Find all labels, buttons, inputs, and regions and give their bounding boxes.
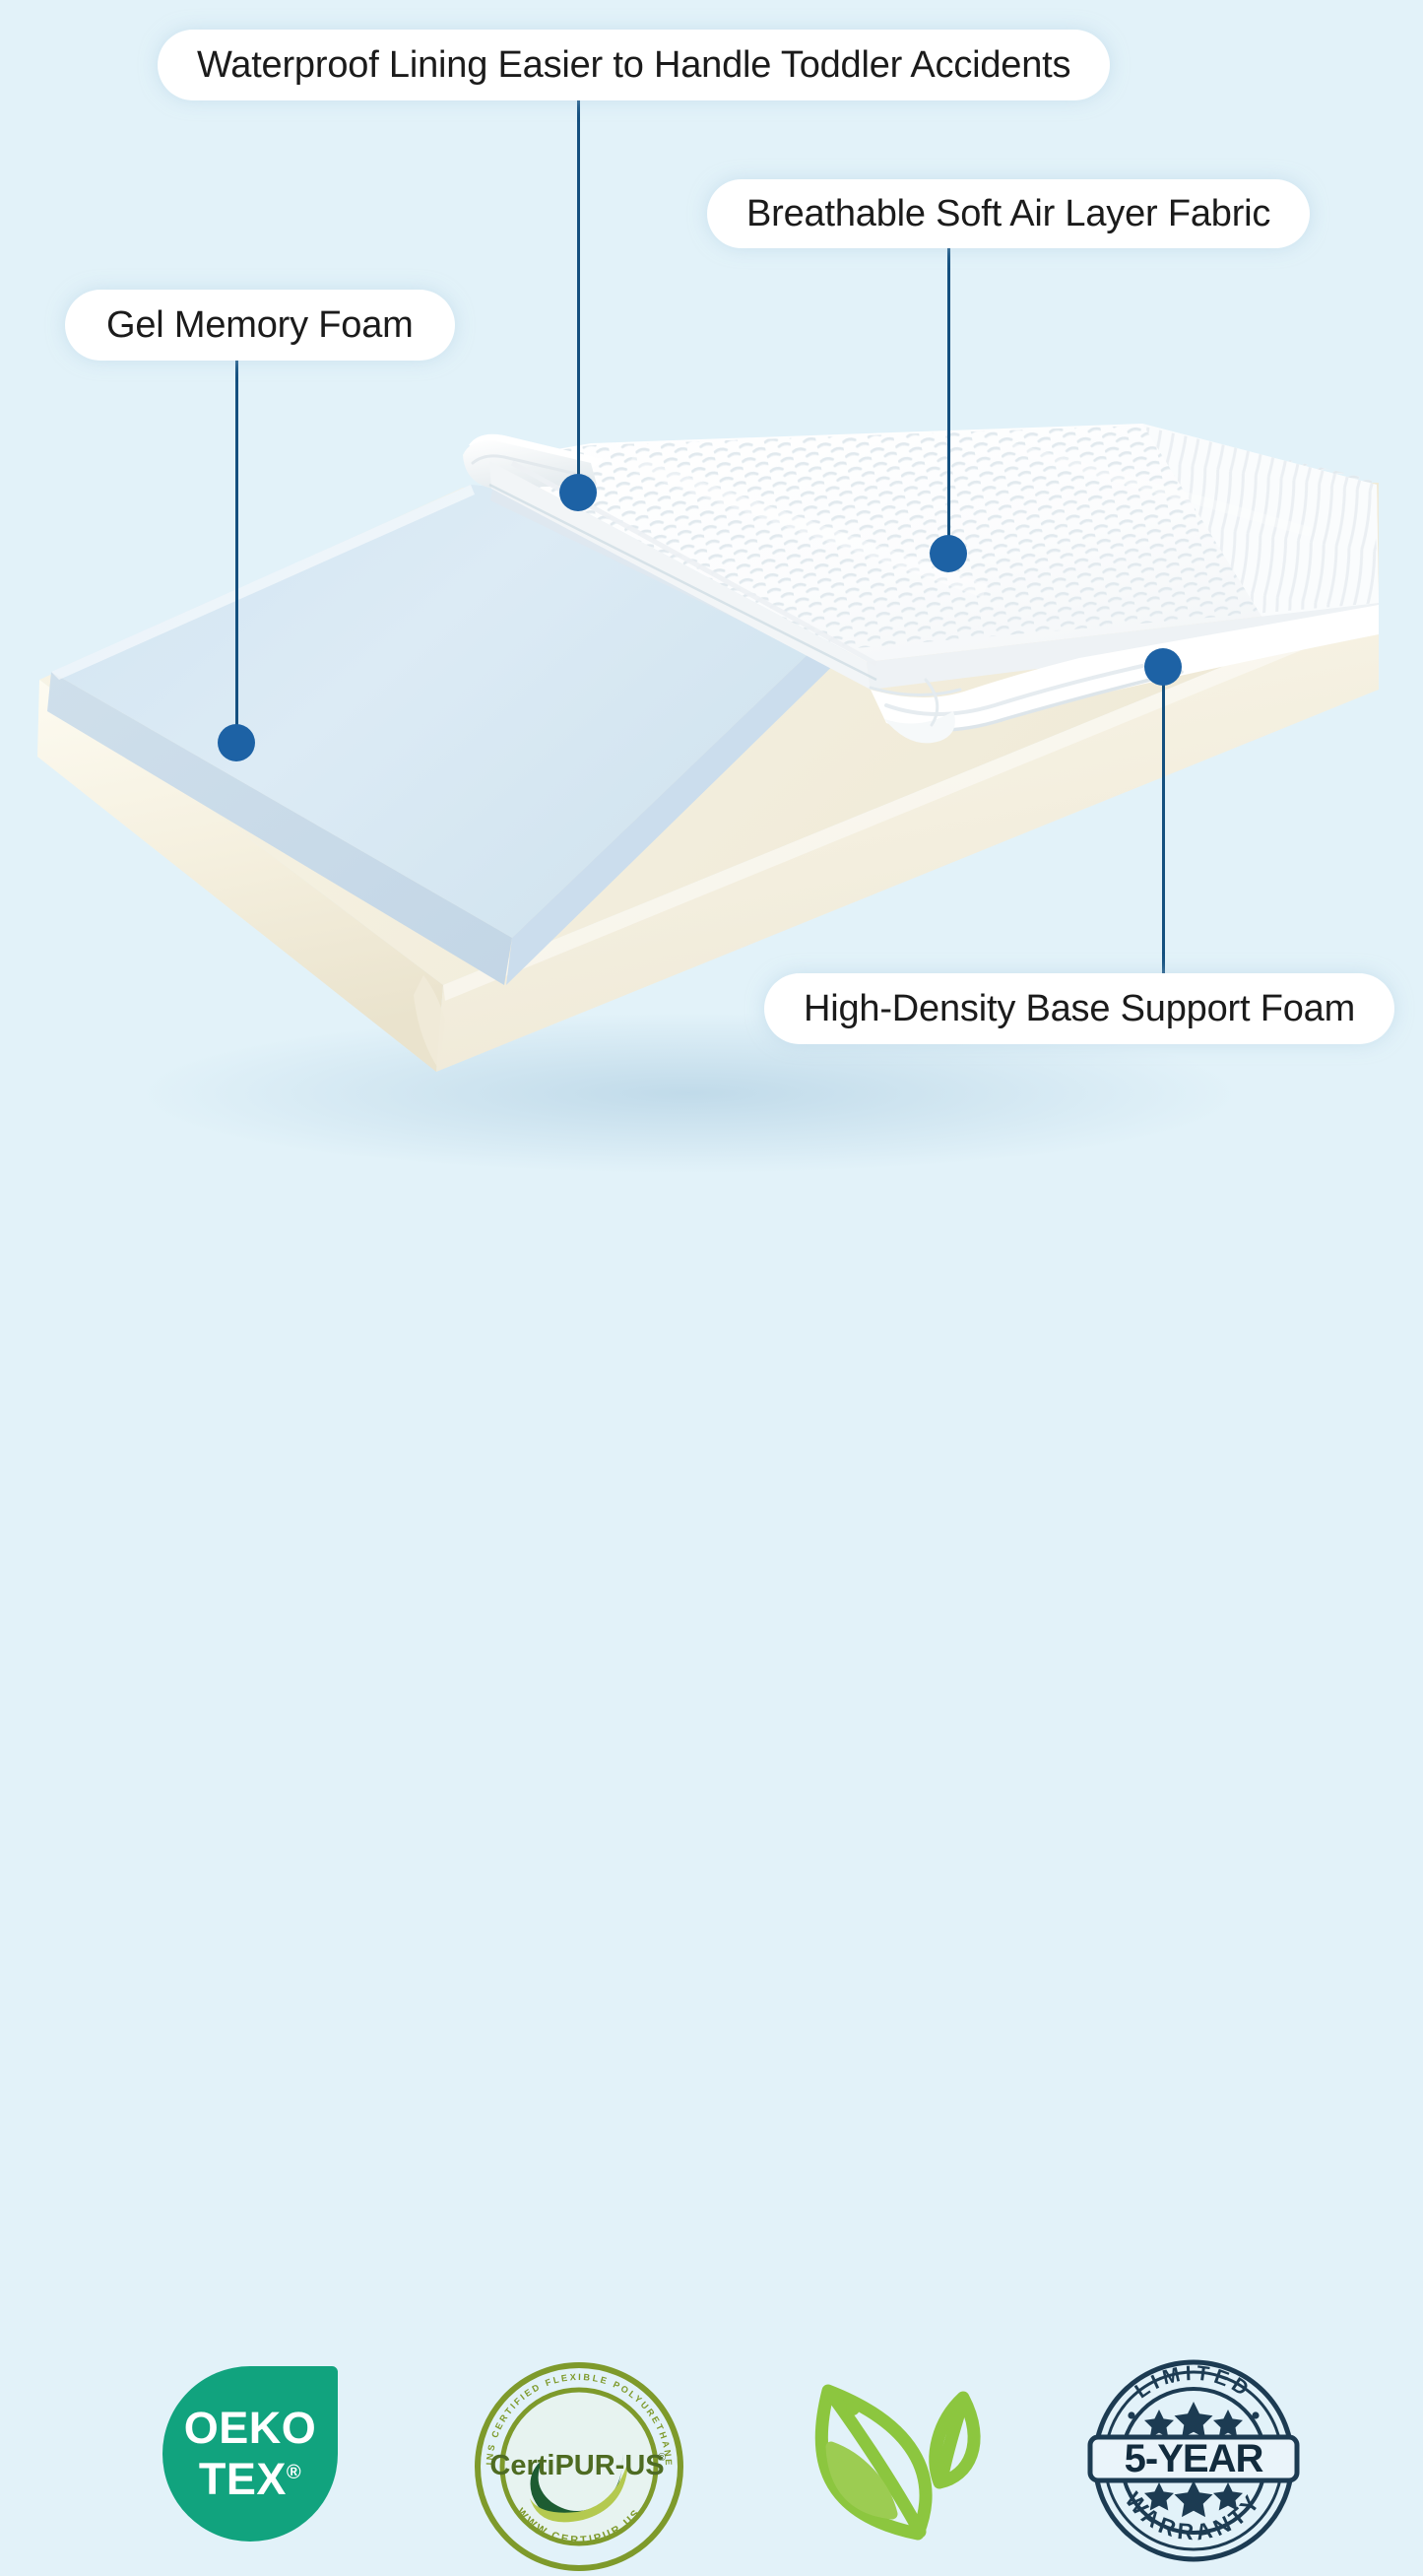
hotspot-dot-high-density-base[interactable] — [1144, 648, 1182, 686]
certification-badges-row: OEKO TEX® CONTAINS CERTIFIED — [0, 1172, 1423, 1414]
certipur-center-text: CertiPUR-US — [489, 2450, 664, 2481]
infographic-canvas: Waterproof Lining Easier to Handle Toddl… — [0, 0, 1423, 1423]
callout-waterproof-lining: Waterproof Lining Easier to Handle Toddl… — [158, 30, 1110, 100]
warranty-stars-top — [1144, 2402, 1243, 2438]
oeko-tex-line1: OEKO — [184, 2407, 317, 2450]
certipur-registered-mark: ® — [658, 2452, 666, 2464]
callout-breathable-fabric: Breathable Soft Air Layer Fabric — [707, 179, 1310, 248]
callout-gel-memory-foam: Gel Memory Foam — [65, 290, 455, 361]
certipur-us-seal-icon: CONTAINS CERTIFIED FLEXIBLE POLYURETHANE… — [475, 2362, 683, 2571]
oeko-tex-badge: OEKO TEX® — [162, 2366, 338, 2542]
callout-label-high-density: High-Density Base Support Foam — [804, 988, 1355, 1030]
oeko-tex-leaf-icon: OEKO TEX® — [162, 2366, 338, 2542]
svg-text:LIMITED: LIMITED — [1131, 2362, 1256, 2404]
oeko-tex-registered-mark: ® — [287, 2462, 301, 2483]
leader-line-gel-memory-foam — [235, 361, 238, 734]
eco-leaves-badge — [794, 2366, 1001, 2563]
leader-line-high-density-base — [1162, 682, 1165, 975]
certipur-us-badge: CONTAINS CERTIFIED FLEXIBLE POLYURETHANE… — [475, 2362, 683, 2571]
warranty-arc-top: LIMITED — [1131, 2362, 1256, 2404]
warranty-badge: LIMITED WARRANTY — [1087, 2354, 1300, 2567]
leader-line-waterproof — [577, 100, 580, 480]
oeko-tex-line2: TEX® — [199, 2450, 301, 2502]
oeko-tex-line2-text: TEX — [199, 2454, 287, 2504]
warranty-center-text: 5-YEAR — [1125, 2437, 1264, 2480]
callout-high-density-base: High-Density Base Support Foam — [764, 973, 1394, 1044]
two-leaves-icon — [794, 2366, 1001, 2563]
callout-label-breathable: Breathable Soft Air Layer Fabric — [746, 193, 1270, 235]
hotspot-dot-breathable[interactable] — [930, 535, 967, 572]
callout-label-gel: Gel Memory Foam — [106, 304, 414, 347]
hotspot-dot-waterproof[interactable] — [559, 474, 597, 511]
callout-label-waterproof: Waterproof Lining Easier to Handle Toddl… — [197, 44, 1070, 87]
leader-line-breathable — [947, 248, 950, 542]
hotspot-dot-gel-memory-foam[interactable] — [218, 724, 255, 761]
warranty-stamp-icon: LIMITED WARRANTY — [1087, 2354, 1300, 2567]
